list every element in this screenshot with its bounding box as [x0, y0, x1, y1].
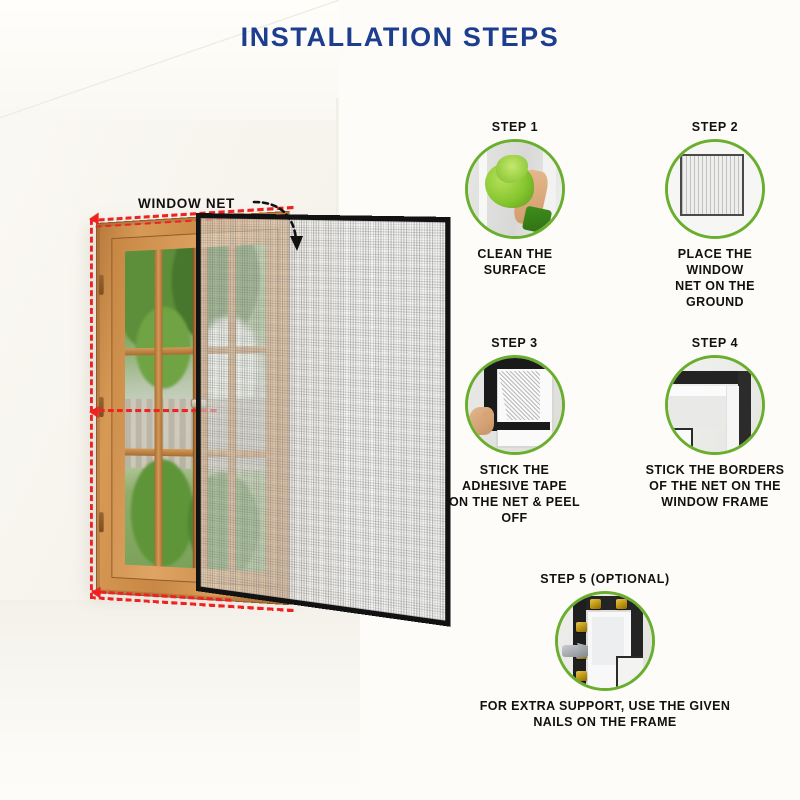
step-2-image — [665, 139, 765, 239]
step-1: STEP 1 CLEAN THE SURFACE — [455, 120, 575, 278]
step-1-image — [465, 139, 565, 239]
step-4-caption: STICK THE BORDERS OF THE NET ON THE WIND… — [645, 462, 785, 510]
window-hinge-icon — [99, 274, 104, 294]
step-5: STEP 5 (OPTIONAL) FOR EXTRA SUPPORT, USE… — [465, 572, 745, 730]
step-1-caption: CLEAN THE SURFACE — [455, 246, 575, 278]
step-3: STEP 3 STICK THE ADHESIVE TAPE ON THE NE… — [447, 336, 582, 526]
nail-icon — [616, 599, 627, 609]
step-5-caption: FOR EXTRA SUPPORT, USE THE GIVEN NAILS O… — [465, 698, 745, 730]
mesh-net-square-icon — [668, 142, 762, 236]
frame-corner-notch — [668, 428, 693, 454]
window-net-diagram — [78, 205, 408, 620]
frame-corner-notch — [616, 656, 642, 690]
floor-shading — [0, 600, 360, 800]
nail-icon — [576, 622, 587, 632]
step-2: STEP 2 PLACE THE WINDOW NET ON THE GROUN… — [650, 120, 780, 310]
step-4: STEP 4 STICK THE BORDERS OF THE NET ON T… — [645, 336, 785, 510]
step-2-label: STEP 2 — [650, 120, 780, 134]
net-on-window-frame-icon — [668, 358, 762, 452]
step-3-image — [465, 355, 565, 455]
nail-icon — [576, 671, 587, 681]
hand-cleaning-cloth-icon — [468, 142, 562, 236]
hammer-and-nails-icon — [558, 594, 652, 688]
step-3-caption: STICK THE ADHESIVE TAPE ON THE NET & PEE… — [447, 462, 582, 526]
finger-icon — [483, 411, 494, 419]
step-3-label: STEP 3 — [447, 336, 582, 350]
curved-dashed-arrow-icon — [250, 196, 320, 256]
net-square — [680, 154, 744, 216]
nail-icon — [590, 599, 601, 609]
glass-panel — [668, 396, 726, 428]
hand-peeling-tape-icon — [468, 358, 562, 452]
step-2-caption: PLACE THE WINDOW NET ON THE GROUND — [650, 246, 780, 310]
mesh-net-surface — [196, 213, 451, 627]
step-5-label: STEP 5 (OPTIONAL) — [465, 572, 745, 586]
net-frame-bottom — [484, 422, 550, 430]
window-net-callout-label: WINDOW NET — [138, 196, 235, 211]
step-5-image — [555, 591, 655, 691]
glazing-bar-vertical — [155, 249, 163, 566]
window-frame-right — [726, 386, 738, 452]
mesh-net-panel-icon — [196, 213, 451, 627]
net-border-right — [738, 371, 751, 452]
window-hinge-icon — [99, 512, 104, 532]
window-hinge-icon — [99, 397, 104, 417]
step-1-label: STEP 1 — [455, 120, 575, 134]
page-title: INSTALLATION STEPS — [0, 22, 800, 53]
ceiling-edge-line — [0, 0, 345, 120]
step-4-label: STEP 4 — [645, 336, 785, 350]
step-4-image — [665, 355, 765, 455]
